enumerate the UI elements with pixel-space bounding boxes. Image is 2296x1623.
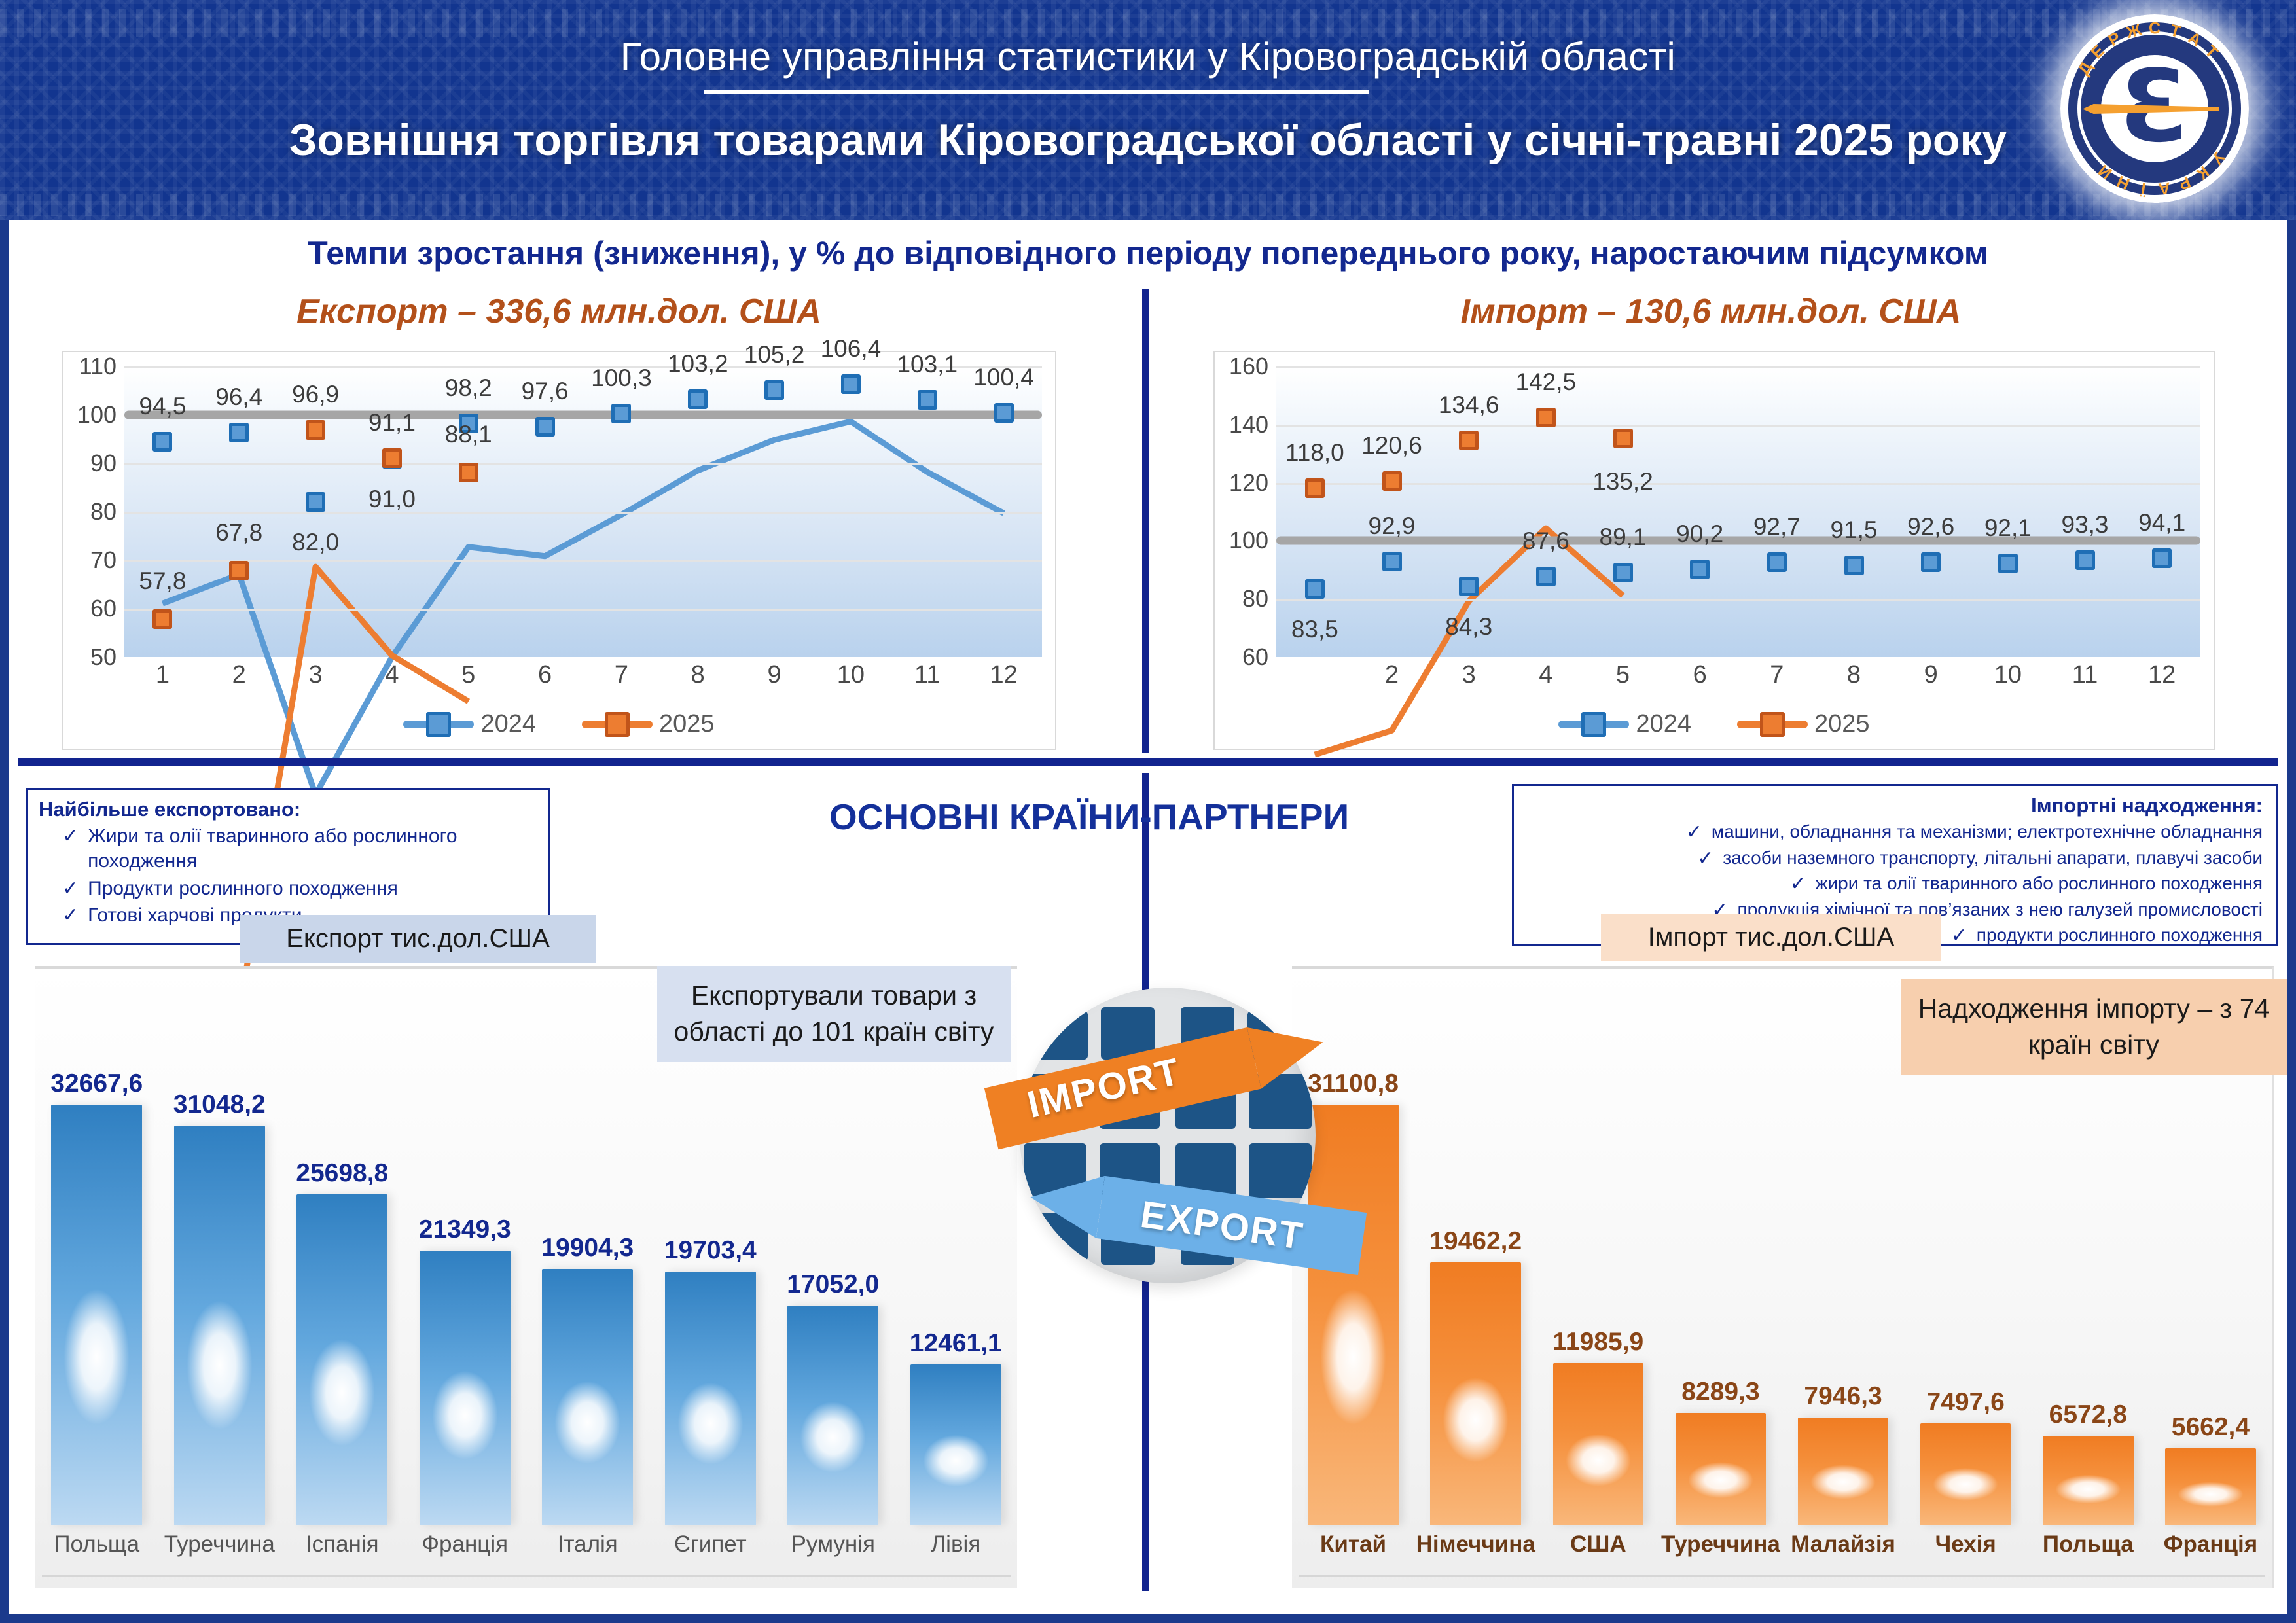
data-point-label: 91,5 xyxy=(1830,516,1877,544)
import-countries-callout: Надходження імпорту – з 74 країн світу xyxy=(1901,979,2287,1075)
bar-category-label: Малайзія xyxy=(1782,1531,1905,1568)
data-point-marker xyxy=(152,609,172,629)
data-point-label: 91,0 xyxy=(368,486,416,513)
embroidery-bottom-stripe xyxy=(0,194,2296,216)
gridline xyxy=(124,609,1042,611)
data-point-label: 118,0 xyxy=(1285,439,1344,467)
data-point-label: 142,5 xyxy=(1516,368,1577,396)
check-icon: ✓ xyxy=(62,903,79,928)
bar-value-label: 19703,4 xyxy=(664,1236,757,1265)
bar-value-label: 7946,3 xyxy=(1804,1382,1882,1411)
gridline xyxy=(124,560,1042,562)
bar xyxy=(910,1364,1001,1525)
legend-item-2024[interactable]: 2024 xyxy=(403,710,536,738)
bar-category-label: Лівія xyxy=(895,1531,1018,1568)
x-tick-label: 3 xyxy=(1462,661,1476,689)
list-item-label: Продукти рослинного походження xyxy=(88,876,398,901)
export-panel-title: Експорт – 336,6 млн.дол. США xyxy=(35,292,1083,331)
data-point-label: 57,8 xyxy=(139,567,186,595)
import-bars-title-pill: Імпорт тис.дол.США xyxy=(1601,914,1941,961)
bar xyxy=(1676,1413,1766,1525)
bar-column: 11985,9 xyxy=(1537,1000,1659,1525)
bar-category-label: США xyxy=(1537,1531,1659,1568)
data-point-label: 96,9 xyxy=(292,381,339,408)
globe-trade-graphic: IMPORT EXPORT xyxy=(991,976,1344,1329)
bar-value-label: 12461,1 xyxy=(910,1329,1002,1358)
gridline xyxy=(1276,599,2200,601)
data-point-label: 87,6 xyxy=(1522,527,1570,555)
data-point-label: 98,2 xyxy=(445,374,492,402)
x-tick-label: 12 xyxy=(990,661,1017,689)
bar xyxy=(1798,1418,1888,1525)
data-point-marker xyxy=(1921,552,1941,572)
legend-swatch xyxy=(582,721,653,728)
data-point-marker xyxy=(1536,567,1556,586)
legend-item-2025[interactable]: 2025 xyxy=(1737,710,1870,738)
data-point-marker xyxy=(1459,431,1479,450)
list-item: ✓жири та олії тваринного або рослинного … xyxy=(1527,872,2263,897)
check-icon: ✓ xyxy=(1790,872,1806,897)
data-point-label: 135,2 xyxy=(1592,468,1653,495)
y-tick-label: 140 xyxy=(1229,411,1268,438)
x-tick-label: 6 xyxy=(1693,661,1707,689)
import-bars-baseline xyxy=(1299,1575,2265,1577)
export-bars-row: 32667,631048,225698,821349,319904,319703… xyxy=(35,1000,1017,1525)
bar xyxy=(296,1194,387,1525)
bar xyxy=(665,1272,756,1525)
data-point-label: 82,0 xyxy=(292,529,339,556)
data-point-marker xyxy=(1536,408,1556,427)
data-point-marker xyxy=(611,404,631,423)
gridline xyxy=(1276,425,2200,427)
data-point-label: 97,6 xyxy=(522,378,569,405)
check-icon: ✓ xyxy=(1686,820,1702,845)
data-point-label: 84,3 xyxy=(1445,613,1492,641)
y-tick-label: 70 xyxy=(90,546,117,574)
bar xyxy=(2043,1436,2133,1525)
import-bars-row: 31100,819462,211985,98289,37946,37497,66… xyxy=(1292,1000,2272,1525)
data-point-marker xyxy=(1382,552,1402,571)
x-tick-label: 4 xyxy=(385,661,399,689)
bar-column: 31048,2 xyxy=(158,1000,281,1525)
export-chart-plot-area: 94,596,482,091,098,297,6100,3103,2105,21… xyxy=(124,366,1042,657)
data-point-label: 94,1 xyxy=(2138,509,2185,537)
y-tick-label: 80 xyxy=(90,498,117,526)
y-tick-label: 120 xyxy=(1229,469,1268,497)
data-point-label: 134,6 xyxy=(1439,391,1499,419)
bar-column: 19904,3 xyxy=(526,1000,649,1525)
data-point-marker xyxy=(1690,560,1710,579)
bar-category-label: Туреччина xyxy=(158,1531,281,1568)
bar-category-label: Іспанія xyxy=(281,1531,404,1568)
bar-column: 7946,3 xyxy=(1782,1000,1905,1525)
export-bars-labels: ПольщаТуреччинаІспаніяФранціяІталіяЄгипе… xyxy=(35,1531,1017,1568)
bar-column: 6572,8 xyxy=(2027,1000,2149,1525)
bar xyxy=(51,1105,142,1525)
data-point-marker xyxy=(1382,471,1402,491)
list-item-label: жири та олії тваринного або рослинного п… xyxy=(1816,872,2263,895)
data-point-marker xyxy=(382,448,402,468)
export-chart-legend: 20242025 xyxy=(63,710,1055,738)
bar-category-label: Італія xyxy=(526,1531,649,1568)
legend-item-2024[interactable]: 2024 xyxy=(1558,710,1691,738)
export-countries-callout: Експортували товари з області до 101 кра… xyxy=(657,966,1011,1062)
export-chart-x-axis: 123456789101112 xyxy=(124,661,1042,691)
legend-label: 2024 xyxy=(1636,710,1691,738)
page-title: Зовнішня торгівля товарами Кіровоградськ… xyxy=(0,115,2296,166)
bar-column: 25698,8 xyxy=(281,1000,404,1525)
gridline xyxy=(124,512,1042,514)
data-point-label: 92,7 xyxy=(1753,513,1801,541)
list-item-label: засоби наземного транспорту, літальні ап… xyxy=(1723,846,2263,870)
list-item: ✓Продукти рослинного походження xyxy=(62,876,537,901)
bar-category-label: Туреччина xyxy=(1659,1531,1782,1568)
export-chart-y-axis: 5060708090100110 xyxy=(63,366,123,657)
import-chart-y-axis: 6080100120140160 xyxy=(1215,366,1275,657)
bar-value-label: 6572,8 xyxy=(2049,1400,2127,1429)
x-tick-label: 11 xyxy=(2072,661,2098,689)
data-point-marker xyxy=(152,432,172,452)
data-point-label: 100,4 xyxy=(973,364,1034,391)
data-point-marker xyxy=(229,561,249,580)
x-tick-label: 7 xyxy=(1770,661,1784,689)
derzhstat-emblem-icon: Ԑ ДЕРЖСТАТУКРАЇНИ xyxy=(2060,14,2249,203)
check-icon: ✓ xyxy=(62,876,79,901)
header-banner: Головне управління статистики у Кіровогр… xyxy=(0,0,2296,220)
data-point-marker xyxy=(918,390,937,410)
list-item: ✓Жири та олії тваринного або рослинного … xyxy=(62,824,537,874)
x-tick-label: 9 xyxy=(768,661,781,689)
data-point-marker xyxy=(1613,429,1633,448)
horizontal-section-divider xyxy=(18,758,2278,766)
data-point-label: 89,1 xyxy=(1599,524,1646,551)
data-point-label: 88,1 xyxy=(445,421,492,448)
y-tick-label: 50 xyxy=(90,643,117,671)
bar-category-label: Франція xyxy=(2149,1531,2272,1568)
import-chart-x-axis: 23456789101112 xyxy=(1276,661,2200,691)
export-bars-baseline xyxy=(42,1575,1011,1577)
bar-column: 7497,6 xyxy=(1905,1000,2027,1525)
y-tick-label: 60 xyxy=(90,595,117,622)
bar-value-label: 17052,0 xyxy=(787,1270,879,1299)
data-point-label: 106,4 xyxy=(821,335,882,363)
top-exported-goods-list: ✓Жири та олії тваринного або рослинного … xyxy=(39,824,537,929)
bar-column: 21349,3 xyxy=(404,1000,527,1525)
y-tick-label: 60 xyxy=(1242,643,1268,671)
bar xyxy=(1920,1423,2011,1525)
legend-label: 2024 xyxy=(480,710,536,738)
x-tick-label: 12 xyxy=(2148,661,2176,689)
list-item-label: машини, обладнання та механізми; електро… xyxy=(1712,820,2263,844)
bar-value-label: 25698,8 xyxy=(296,1159,388,1188)
y-tick-label: 100 xyxy=(1229,527,1268,554)
bar-column: 17052,0 xyxy=(772,1000,895,1525)
legend-swatch xyxy=(403,721,474,728)
data-point-label: 92,1 xyxy=(1984,514,2032,542)
import-chart-plot-area: 83,592,984,387,689,190,292,791,592,692,1… xyxy=(1276,366,2200,657)
bar-category-label: Німеччина xyxy=(1414,1531,1537,1568)
data-point-marker xyxy=(688,389,708,409)
check-icon: ✓ xyxy=(1951,923,1967,948)
x-tick-label: 3 xyxy=(309,661,323,689)
data-point-marker xyxy=(306,420,325,440)
bar xyxy=(1430,1262,1520,1525)
data-point-marker xyxy=(2152,548,2172,568)
data-point-marker xyxy=(229,423,249,442)
legend-swatch xyxy=(1737,721,1808,728)
poster-body: Темпи зростання (зниження), у % до відпо… xyxy=(9,220,2287,1614)
legend-label: 2025 xyxy=(1814,710,1870,738)
check-icon: ✓ xyxy=(62,824,79,849)
data-point-label: 100,3 xyxy=(591,365,652,392)
data-point-label: 103,1 xyxy=(897,351,958,378)
bar-category-label: Єгипет xyxy=(649,1531,772,1568)
data-point-label: 67,8 xyxy=(215,519,262,546)
x-tick-label: 8 xyxy=(691,661,705,689)
bar-column: 32667,6 xyxy=(35,1000,158,1525)
y-tick-label: 100 xyxy=(77,401,117,429)
list-item-label: Жири та олії тваринного або рослинного п… xyxy=(88,824,537,874)
bar-value-label: 31048,2 xyxy=(173,1090,266,1119)
data-point-label: 92,9 xyxy=(1368,512,1415,540)
data-point-marker xyxy=(1459,577,1479,596)
y-tick-label: 90 xyxy=(90,450,117,477)
data-point-marker xyxy=(764,380,784,400)
data-point-label: 83,5 xyxy=(1291,616,1338,643)
data-point-marker xyxy=(1305,478,1325,498)
data-point-label: 91,1 xyxy=(368,409,416,437)
import-chart-legend: 20242025 xyxy=(1215,710,2214,738)
data-point-label: 120,6 xyxy=(1361,432,1422,459)
gridline xyxy=(1276,366,2200,368)
organization-name: Головне управління статистики у Кіровогр… xyxy=(0,34,2296,79)
x-tick-label: 5 xyxy=(461,661,475,689)
import-panel-title: Імпорт – 130,6 млн.дол. США xyxy=(1161,292,2261,331)
section-subtitle: Темпи зростання (зниження), у % до відпо… xyxy=(9,234,2287,272)
x-tick-label: 2 xyxy=(1385,661,1399,689)
data-point-label: 103,2 xyxy=(668,350,728,378)
x-tick-label: 11 xyxy=(914,661,940,689)
bar-value-label: 5662,4 xyxy=(2172,1413,2250,1442)
legend-item-2025[interactable]: 2025 xyxy=(582,710,715,738)
x-tick-label: 2 xyxy=(232,661,246,689)
x-tick-label: 9 xyxy=(1924,661,1938,689)
legend-label: 2025 xyxy=(659,710,715,738)
data-point-label: 93,3 xyxy=(2061,511,2108,539)
y-tick-label: 80 xyxy=(1242,585,1268,613)
x-tick-label: 6 xyxy=(538,661,552,689)
bar-category-label: Китай xyxy=(1292,1531,1414,1568)
bar-value-label: 19904,3 xyxy=(541,1234,634,1262)
x-tick-label: 8 xyxy=(1847,661,1861,689)
bar xyxy=(420,1251,511,1525)
list-item-label: продукти рослинного походження xyxy=(1977,923,2263,947)
import-bars-labels: КитайНімеччинаСШАТуреччинаМалайзіяЧехіяП… xyxy=(1292,1531,2272,1568)
bar-value-label: 19462,2 xyxy=(1429,1227,1522,1256)
emblem-ring-text: ДЕРЖСТАТУКРАЇНИ xyxy=(2060,14,2249,203)
x-tick-label: 10 xyxy=(1994,661,2022,689)
top-exported-goods-heading: Найбільше експортовано: xyxy=(39,798,537,821)
data-point-marker xyxy=(1767,552,1787,572)
list-item: ✓машини, обладнання та механізми; електр… xyxy=(1527,820,2263,845)
legend-swatch xyxy=(1558,721,1629,728)
data-point-label: 90,2 xyxy=(1676,520,1723,548)
y-tick-label: 110 xyxy=(79,353,117,380)
data-point-marker xyxy=(1613,563,1633,582)
gridline xyxy=(124,463,1042,465)
partners-section-title: ОСНОВНІ КРАЇНИ-ПАРТНЕРИ xyxy=(729,796,1449,838)
organization-underline xyxy=(704,90,1369,94)
bar-category-label: Франція xyxy=(404,1531,527,1568)
top-imported-goods-heading: Імпортні надходження: xyxy=(1527,794,2263,817)
bar xyxy=(1553,1363,1643,1525)
bar-value-label: 11985,9 xyxy=(1552,1328,1643,1357)
data-point-marker xyxy=(2075,550,2095,570)
bar xyxy=(542,1269,633,1525)
check-icon: ✓ xyxy=(1697,846,1713,871)
x-tick-label: 7 xyxy=(615,661,628,689)
embroidery-top-stripe xyxy=(0,9,2296,37)
data-point-marker xyxy=(459,463,478,482)
bar-value-label: 7497,6 xyxy=(1927,1388,2005,1417)
bar-column: 8289,3 xyxy=(1659,1000,1782,1525)
data-point-label: 96,4 xyxy=(215,383,262,411)
data-point-marker xyxy=(1305,579,1325,599)
export-line-chart: 5060708090100110 94,596,482,091,098,297,… xyxy=(62,351,1056,750)
data-point-marker xyxy=(1844,556,1864,575)
x-tick-label: 4 xyxy=(1539,661,1552,689)
bar-category-label: Чехія xyxy=(1905,1531,2027,1568)
bar-value-label: 21349,3 xyxy=(419,1215,511,1244)
bar-category-label: Румунія xyxy=(772,1531,895,1568)
data-point-label: 94,5 xyxy=(139,393,186,420)
data-point-marker xyxy=(1998,554,2018,573)
bar xyxy=(174,1126,265,1525)
gridline xyxy=(1276,483,2200,485)
data-point-marker xyxy=(841,374,861,394)
data-point-marker xyxy=(535,417,555,437)
bar-value-label: 32667,6 xyxy=(50,1069,143,1098)
data-point-label: 105,2 xyxy=(744,341,805,368)
bar-column: 5662,4 xyxy=(2149,1000,2272,1525)
list-item: ✓засоби наземного транспорту, літальні а… xyxy=(1527,846,2263,871)
data-point-marker xyxy=(306,492,325,512)
vertical-divider-top xyxy=(1142,289,1149,753)
bar-category-label: Польща xyxy=(35,1531,158,1568)
data-point-marker xyxy=(994,403,1014,423)
import-line-chart: 6080100120140160 83,592,984,387,689,190,… xyxy=(1213,351,2215,750)
y-tick-label: 160 xyxy=(1229,353,1268,380)
poster-page: Головне управління статистики у Кіровогр… xyxy=(0,0,2296,1623)
baseline-100 xyxy=(124,410,1042,419)
bar xyxy=(2165,1448,2255,1525)
bar-value-label: 8289,3 xyxy=(1681,1378,1759,1406)
x-tick-label: 5 xyxy=(1616,661,1630,689)
export-bars-title-pill: Експорт тис.дол.США xyxy=(240,915,596,963)
bar-column: 19703,4 xyxy=(649,1000,772,1525)
bar-column: 19462,2 xyxy=(1414,1000,1537,1525)
x-tick-label: 10 xyxy=(837,661,865,689)
bar-category-label: Польща xyxy=(2027,1531,2149,1568)
x-tick-label: 1 xyxy=(156,661,170,689)
data-point-label: 92,6 xyxy=(1907,513,1954,541)
bar xyxy=(787,1306,878,1525)
